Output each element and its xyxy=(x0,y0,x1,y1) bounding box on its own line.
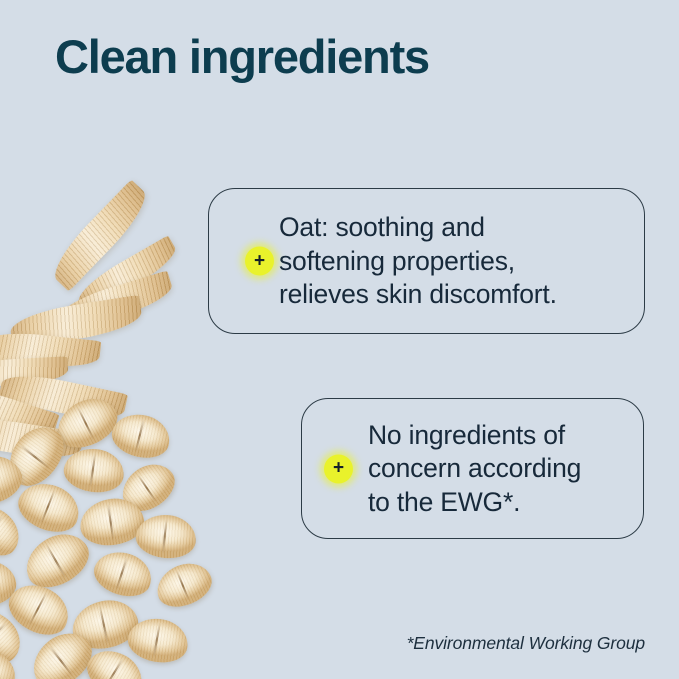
oat-flake xyxy=(89,545,157,603)
plus-icon: + xyxy=(245,247,274,276)
promo-graphic: Clean ingredients + Oat: soothing and so… xyxy=(0,0,679,679)
plus-glyph: + xyxy=(333,459,344,478)
feature-card-ewg-text: No ingredients of concern according to t… xyxy=(368,418,581,519)
plus-glyph: + xyxy=(254,251,265,270)
feature-card-oat: + Oat: soothing and softening properties… xyxy=(208,188,645,334)
oat-flake xyxy=(108,409,174,464)
feature-card-ewg: + No ingredients of concern according to… xyxy=(301,398,644,539)
footnote: *Environmental Working Group xyxy=(407,633,645,654)
oat-flake xyxy=(151,556,218,614)
feature-card-oat-text: Oat: soothing and softening properties, … xyxy=(279,211,557,312)
plus-icon: + xyxy=(324,454,353,483)
page-title: Clean ingredients xyxy=(55,32,429,83)
